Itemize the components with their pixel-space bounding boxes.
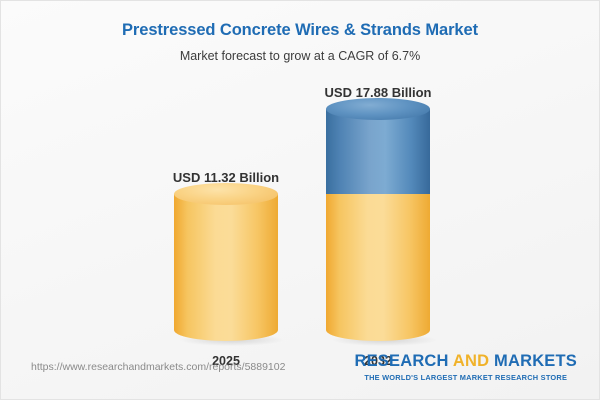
cylinder-body xyxy=(326,109,430,194)
cylinder-2025 xyxy=(174,194,278,341)
cylinder-segment-yellow xyxy=(174,194,278,341)
plot-area: USD 11.32 Billion 2025 USD 17.88 Billion xyxy=(1,86,599,341)
logo-wordmark: RESEARCH AND MARKETS xyxy=(354,353,577,370)
logo-tagline: THE WORLD'S LARGEST MARKET RESEARCH STOR… xyxy=(354,373,577,382)
logo-word-and: AND xyxy=(453,352,489,370)
chart-subtitle: Market forecast to grow at a CAGR of 6.7… xyxy=(1,49,599,63)
footer: https://www.researchandmarkets.com/repor… xyxy=(1,347,599,399)
chart-card: Prestressed Concrete Wires & Strands Mar… xyxy=(0,0,600,400)
report-url-link[interactable]: https://www.researchandmarkets.com/repor… xyxy=(31,361,285,373)
bar-group-2032: USD 17.88 Billion 2032 xyxy=(326,109,430,341)
cylinder-segment-blue xyxy=(326,109,430,194)
logo-word-research: RESEARCH xyxy=(354,352,448,370)
bar-group-2025: USD 11.32 Billion 2025 xyxy=(174,194,278,341)
cylinder-body xyxy=(326,194,430,341)
cylinder-top-cap xyxy=(326,98,430,120)
logo-word-markets: MARKETS xyxy=(494,352,577,370)
cylinder-2032 xyxy=(326,109,430,341)
cylinder-body xyxy=(174,194,278,341)
page-title: Prestressed Concrete Wires & Strands Mar… xyxy=(1,21,599,40)
research-and-markets-logo[interactable]: RESEARCH AND MARKETS THE WORLD'S LARGEST… xyxy=(354,353,577,382)
cylinder-segment-yellow xyxy=(326,194,430,341)
cylinder-top-cap xyxy=(174,183,278,205)
chart-header: Prestressed Concrete Wires & Strands Mar… xyxy=(1,1,599,63)
